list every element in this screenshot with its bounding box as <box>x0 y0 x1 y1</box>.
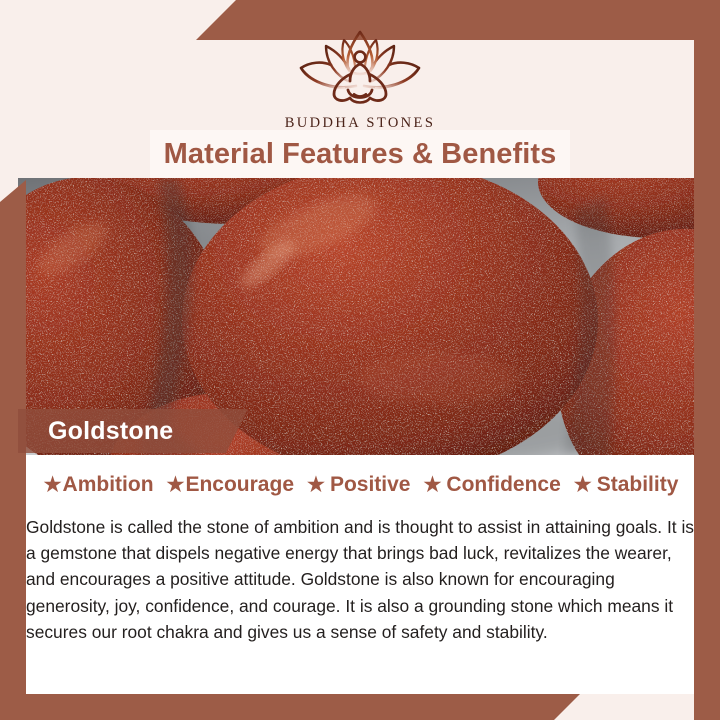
keyword-label: Confidence <box>446 473 560 497</box>
star-icon: ★ <box>44 475 62 495</box>
infographic-page: BUDDHA STONES Material Features & Benefi… <box>0 0 720 720</box>
keyword-label: Positive <box>330 473 411 497</box>
page-title: Material Features & Benefits <box>164 138 557 171</box>
stone-description: Goldstone is called the stone of ambitio… <box>26 514 696 645</box>
star-icon: ★ <box>307 475 325 495</box>
keyword-item-positive: ★ Positive <box>307 473 410 497</box>
stone-name: Goldstone <box>48 417 173 446</box>
keyword-label: Stability <box>597 473 679 497</box>
keyword-list: ★ Ambition ★ Encourage ★ Positive ★ Conf… <box>26 473 696 497</box>
star-icon: ★ <box>423 475 441 495</box>
keyword-item-encourage: ★ Encourage <box>167 473 294 497</box>
stone-name-banner: Goldstone <box>18 409 248 453</box>
keyword-item-stability: ★ Stability <box>574 473 679 497</box>
keyword-label: Encourage <box>185 473 294 497</box>
keyword-label: Ambition <box>63 473 154 497</box>
lotus-meditation-icon <box>284 26 436 112</box>
star-icon: ★ <box>167 475 185 495</box>
keyword-item-ambition: ★ Ambition <box>44 473 154 497</box>
page-title-box: Material Features & Benefits <box>150 130 570 178</box>
keyword-item-confidence: ★ Confidence <box>423 473 560 497</box>
brand-logo: BUDDHA STONES <box>0 26 720 132</box>
star-icon: ★ <box>574 475 592 495</box>
frame-bottom-bar <box>0 694 580 720</box>
